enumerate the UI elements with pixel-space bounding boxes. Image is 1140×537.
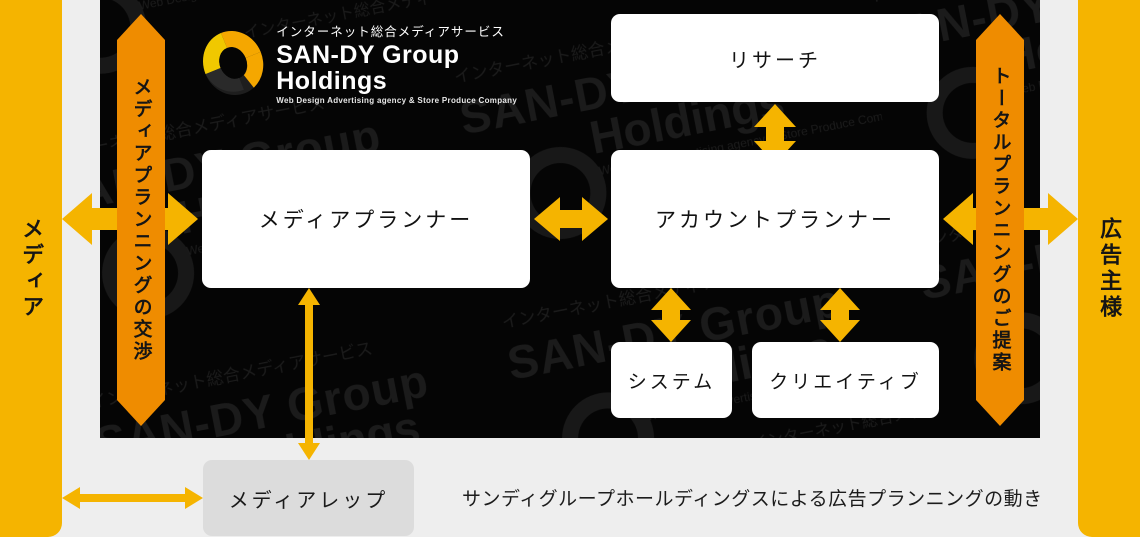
box-system-label: システム [628, 367, 715, 394]
box-research[interactable]: リサーチ [611, 14, 939, 102]
arrow-planner-to-account [534, 197, 608, 241]
box-media-planner-label: メディアプランナー [259, 204, 474, 234]
arrow-planner-to-rep [298, 288, 320, 460]
diagram-canvas: メディア 広告主様 インターネット総合メディアサービス SAN-DY Group… [0, 0, 1140, 537]
banner-total-planning-proposal: トータルプランニングのご提案 [976, 14, 1024, 426]
arrow-media-to-rep [62, 487, 203, 509]
box-media-rep[interactable]: メディアレップ [203, 460, 414, 536]
banner-left-shape [117, 14, 165, 426]
arrow-account-to-creative [820, 288, 860, 342]
box-media-planner[interactable]: メディアプランナー [202, 150, 530, 288]
arrow-account-to-system [651, 288, 691, 342]
brand-logo: インターネット総合メディアサービス SAN-DY Group Holdings … [198, 20, 548, 106]
diagram-caption: サンディグループホールディングスによる広告プランニングの動き [462, 484, 1043, 511]
banner-right-shape [976, 14, 1024, 426]
banner-media-planning-negotiation: メディアプランニングの交渉 [117, 14, 165, 426]
box-account-planner-label: アカウントプランナー [655, 204, 895, 234]
box-research-label: リサーチ [729, 44, 821, 73]
box-account-planner[interactable]: アカウントプランナー [611, 150, 939, 288]
box-creative[interactable]: クリエイティブ [752, 342, 939, 418]
logo-name: SAN-DY Group Holdings [276, 42, 548, 95]
box-media-rep-label: メディアレップ [229, 484, 389, 513]
logo-tagline: インターネット総合メディアサービス [276, 21, 548, 40]
ring-logo-icon [198, 23, 268, 103]
box-system[interactable]: システム [611, 342, 732, 418]
box-creative-label: クリエイティブ [769, 367, 921, 394]
logo-subtitle: Web Design Advertising agency & Store Pr… [276, 96, 548, 105]
arrows-layer [0, 0, 1140, 537]
